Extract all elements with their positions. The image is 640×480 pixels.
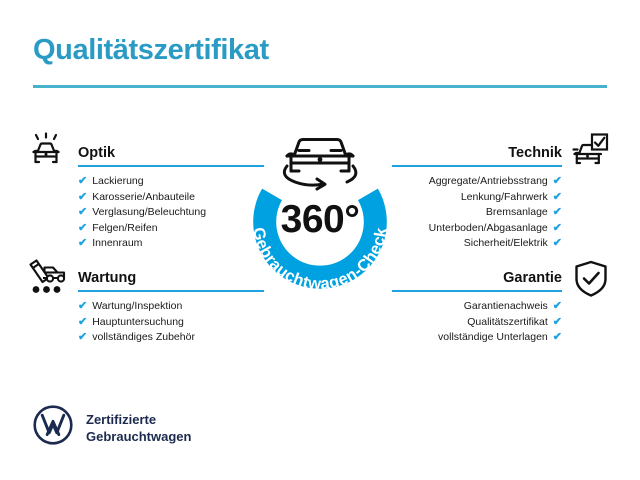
list-item-label: vollständige Unterlagen <box>438 330 548 346</box>
section-garantie: Garantie Garantienachweis ✔ Qualitätszer… <box>392 266 562 346</box>
car-shine-icon <box>27 132 65 175</box>
check-icon: ✔ <box>553 299 562 315</box>
list-item-label: Qualitätszertifikat <box>467 315 548 331</box>
section-header: Technik <box>392 141 562 167</box>
list-item-label: Wartung/Inspektion <box>92 299 182 315</box>
section-title: Wartung <box>78 270 136 286</box>
check-icon: ✔ <box>78 221 87 237</box>
vw-logo <box>33 405 73 450</box>
car-service-pencil-icon <box>26 258 68 303</box>
list-item: ✔ Hauptuntersuchung <box>78 315 264 331</box>
page-title: Qualitätszertifikat <box>33 34 269 67</box>
checklist: ✔ Wartung/Inspektion ✔ Hauptuntersuchung… <box>78 299 264 346</box>
badge-center-label: 360° <box>281 198 360 241</box>
list-item-label: Lenkung/Fahrwerk <box>461 190 548 206</box>
list-item: Qualitätszertifikat ✔ <box>392 315 562 331</box>
footer-line-2: Gebrauchtwagen <box>86 429 191 444</box>
list-item-label: Lackierung <box>92 174 143 190</box>
section-title: Garantie <box>503 270 562 286</box>
list-item-label: Verglasung/Beleuchtung <box>92 205 206 221</box>
list-item-label: Hauptuntersuchung <box>92 315 184 331</box>
list-item-label: Sicherheit/Elektrik <box>464 236 548 252</box>
check-icon: ✔ <box>78 315 87 331</box>
car-checkbox-icon <box>570 132 610 175</box>
check-icon: ✔ <box>78 299 87 315</box>
title-divider <box>33 85 607 88</box>
check-icon: ✔ <box>553 236 562 252</box>
list-item: Aggregate/Antriebsstrang ✔ <box>392 174 562 190</box>
list-item: Bremsanlage ✔ <box>392 205 562 221</box>
section-divider <box>392 165 562 167</box>
car-rotate-360-icon <box>284 140 356 190</box>
list-item: Garantienachweis ✔ <box>392 299 562 315</box>
checklist: Aggregate/Antriebsstrang ✔ Lenkung/Fahrw… <box>392 174 562 252</box>
check-icon: ✔ <box>553 174 562 190</box>
list-item-label: vollständiges Zubehör <box>92 330 195 346</box>
list-item-label: Felgen/Reifen <box>92 221 157 237</box>
list-item: Sicherheit/Elektrik ✔ <box>392 236 562 252</box>
check-icon: ✔ <box>78 190 87 206</box>
checklist: Garantienachweis ✔ Qualitätszertifikat ✔… <box>392 299 562 346</box>
list-item-label: Aggregate/Antriebsstrang <box>429 174 548 190</box>
list-item: Unterboden/Abgasanlage ✔ <box>392 221 562 237</box>
certificate-page: Qualitätszertifikat <box>0 0 640 480</box>
footer-line-1: Zertifizierte <box>86 412 156 427</box>
section-divider <box>392 290 562 292</box>
check-icon: ✔ <box>553 190 562 206</box>
list-item: ✔ vollständiges Zubehör <box>78 330 264 346</box>
check-icon: ✔ <box>553 315 562 331</box>
footer-brand: Zertifizierte Gebrauchtwagen <box>33 405 191 450</box>
list-item-label: Garantienachweis <box>464 299 548 315</box>
check-icon: ✔ <box>553 330 562 346</box>
check-icon: ✔ <box>78 330 87 346</box>
badge-360-gebrauchtwagen-check: Gebrauchtwagen-Check 360° <box>232 124 408 304</box>
check-icon: ✔ <box>78 205 87 221</box>
check-icon: ✔ <box>78 174 87 190</box>
section-title: Technik <box>508 145 562 161</box>
shield-check-icon <box>574 260 608 303</box>
check-icon: ✔ <box>553 221 562 237</box>
list-item-label: Karosserie/Anbauteile <box>92 190 195 206</box>
list-item-label: Innenraum <box>92 236 142 252</box>
list-item-label: Bremsanlage <box>486 205 548 221</box>
section-title: Optik <box>78 145 115 161</box>
list-item: Lenkung/Fahrwerk ✔ <box>392 190 562 206</box>
footer-text: Zertifizierte Gebrauchtwagen <box>86 411 191 445</box>
section-header: Garantie <box>392 266 562 292</box>
list-item-label: Unterboden/Abgasanlage <box>429 221 548 237</box>
check-icon: ✔ <box>78 236 87 252</box>
check-icon: ✔ <box>553 205 562 221</box>
list-item: vollständige Unterlagen ✔ <box>392 330 562 346</box>
section-technik: Technik Aggregate/Antriebsstrang ✔ Lenku… <box>392 141 562 252</box>
